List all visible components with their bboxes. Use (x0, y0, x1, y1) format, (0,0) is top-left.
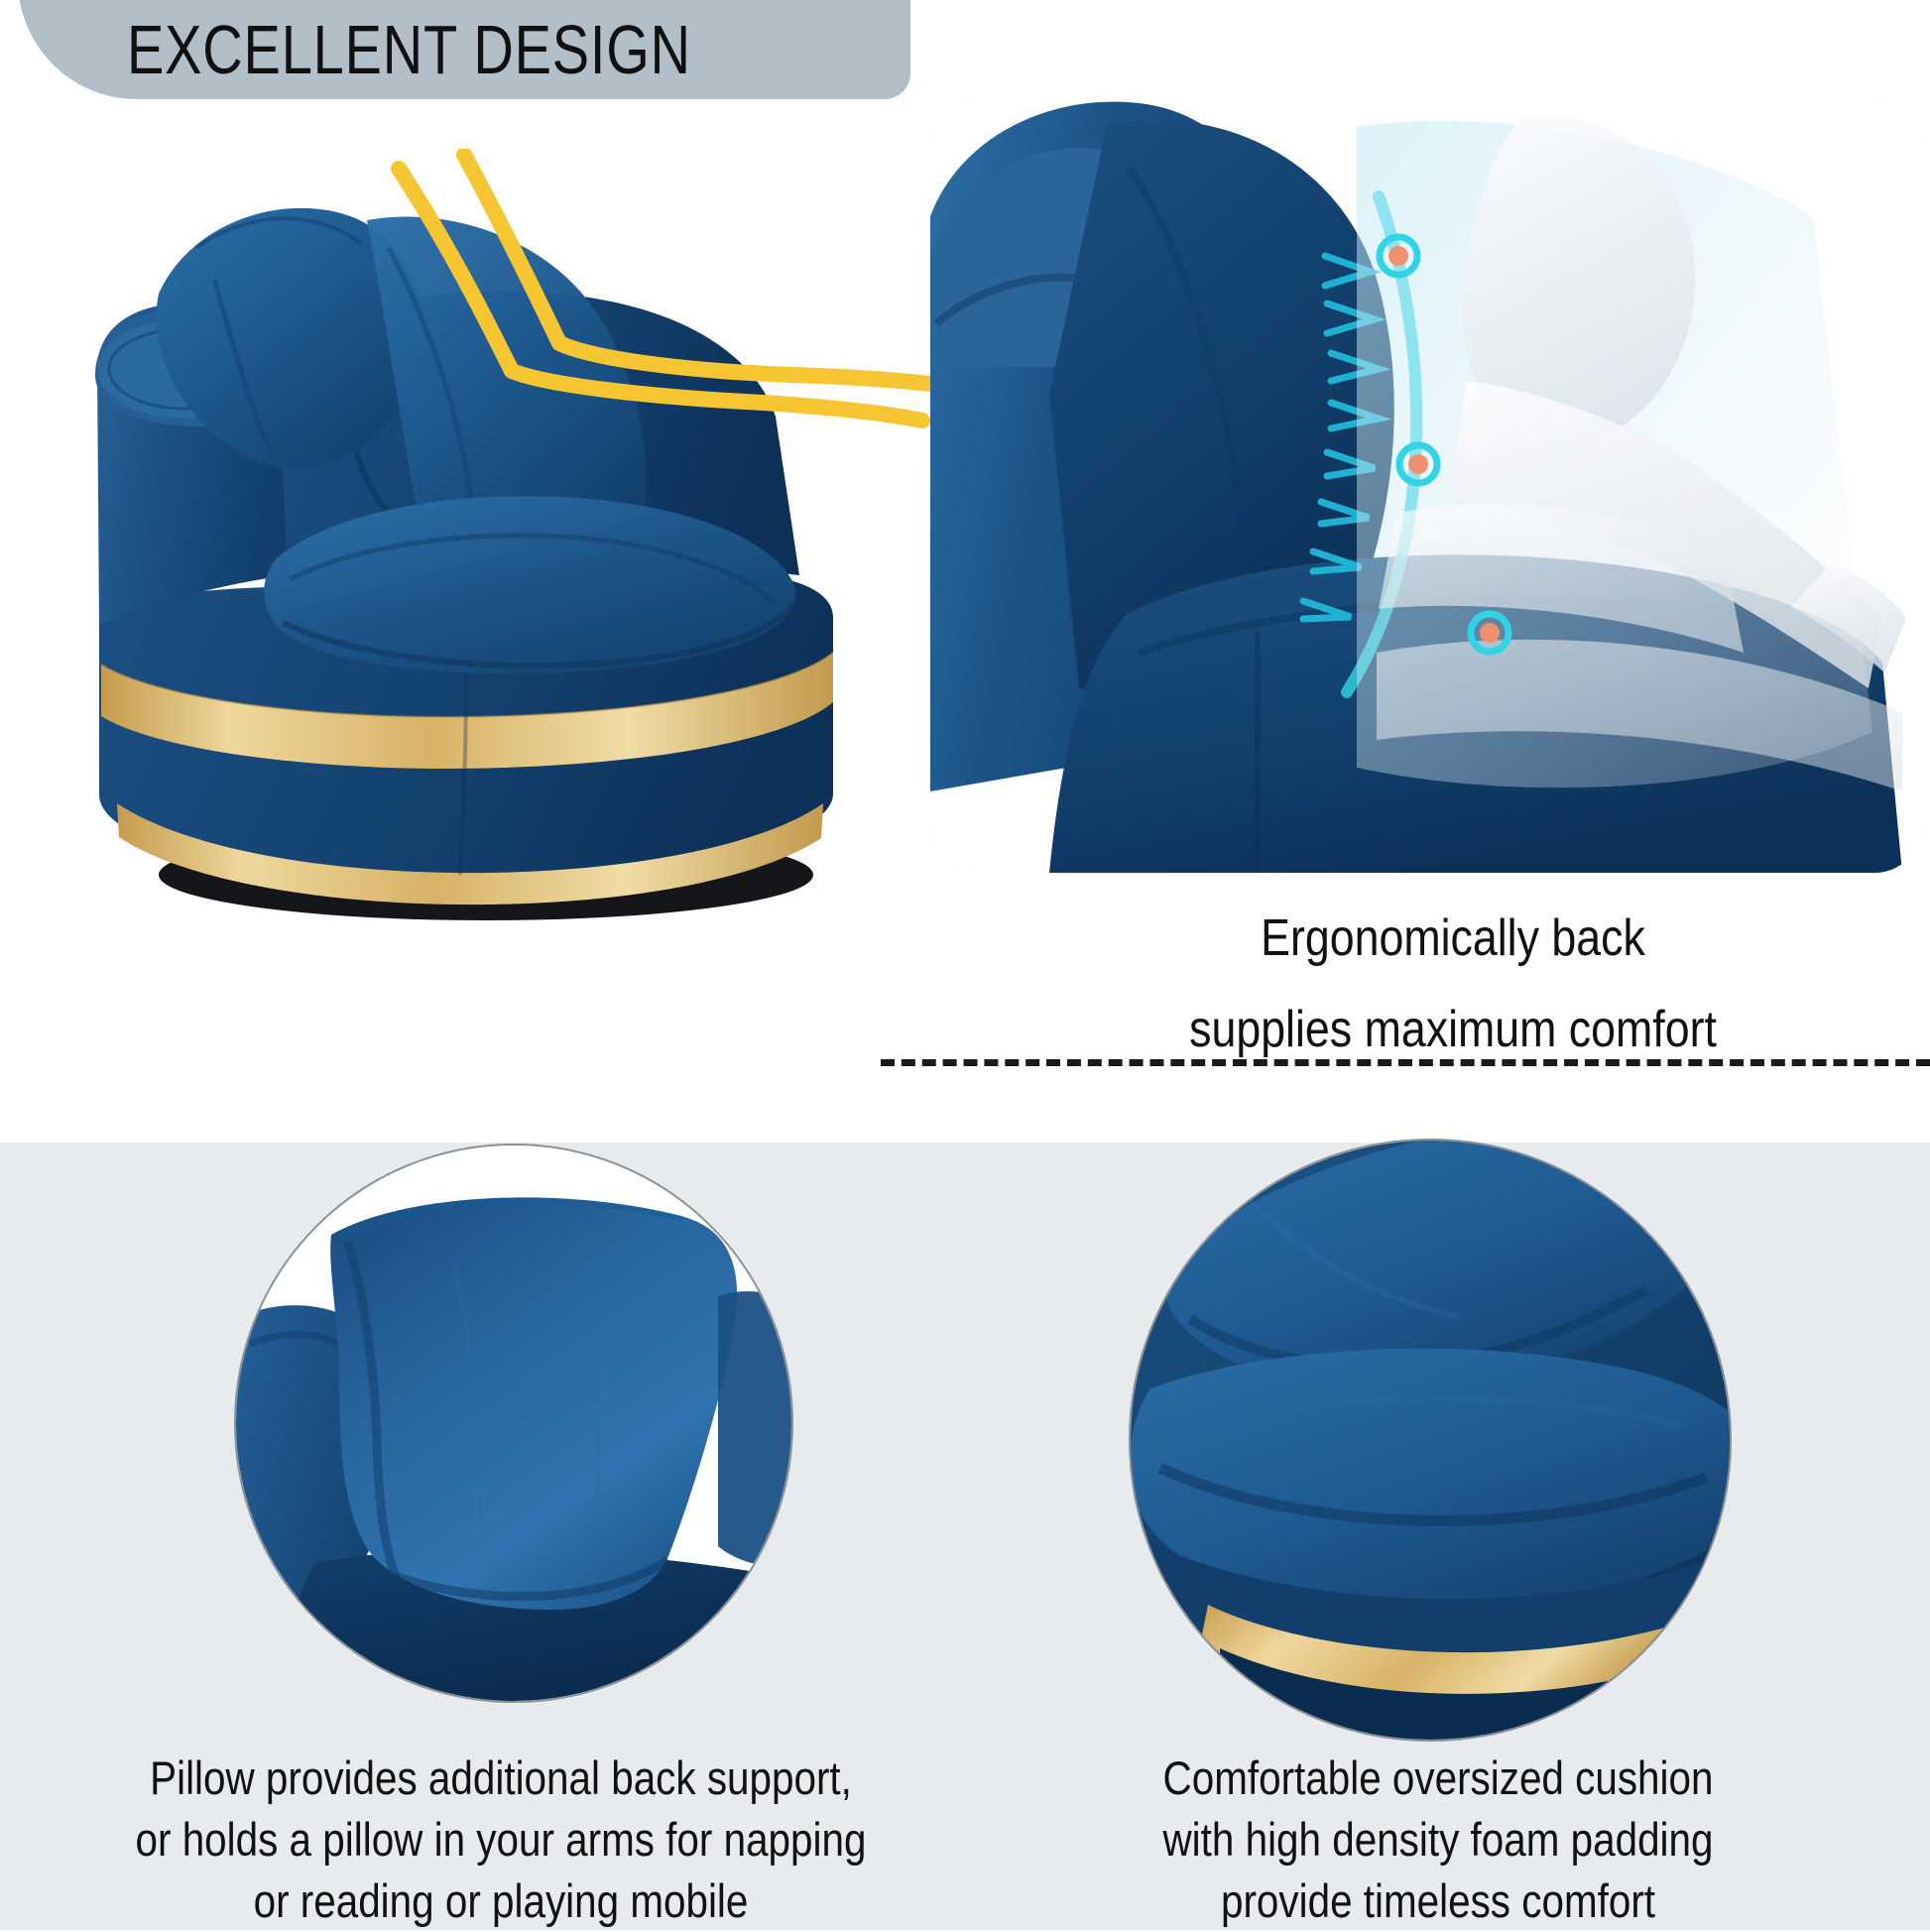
ergonomic-caption: Ergonomically back supplies maximum comf… (982, 893, 1924, 1075)
pillow-circle-image (234, 1144, 793, 1703)
cushion-caption-line-2: with high density foam padding (1054, 1809, 1822, 1871)
cushion-circle-image (1129, 1139, 1732, 1742)
pillow-caption: Pillow provides additional back support,… (55, 1748, 947, 1932)
pillow-caption-line-1: Pillow provides additional back support, (117, 1748, 885, 1809)
excellent-design-banner: EXCELLENT DESIGN (18, 0, 910, 99)
cushion-caption: Comfortable oversized cushion with high … (992, 1748, 1884, 1932)
banner-title: EXCELLENT DESIGN (127, 10, 691, 89)
main-chair-image (40, 109, 932, 932)
product-infographic: EXCELLENT DESIGN (0, 0, 1930, 1930)
top-section: EXCELLENT DESIGN (0, 0, 1930, 1143)
dashed-divider-icon (881, 1059, 1930, 1066)
ergonomic-panel-image (930, 97, 1922, 873)
cushion-caption-line-1: Comfortable oversized cushion (1054, 1748, 1822, 1809)
pillow-caption-line-3: or reading or playing mobile (117, 1871, 885, 1932)
ergonomic-caption-line-1: Ergonomically back (1048, 893, 1859, 984)
cushion-caption-line-3: provide timeless comfort (1054, 1871, 1822, 1932)
pillow-caption-line-2: or holds a pillow in your arms for nappi… (117, 1809, 885, 1871)
